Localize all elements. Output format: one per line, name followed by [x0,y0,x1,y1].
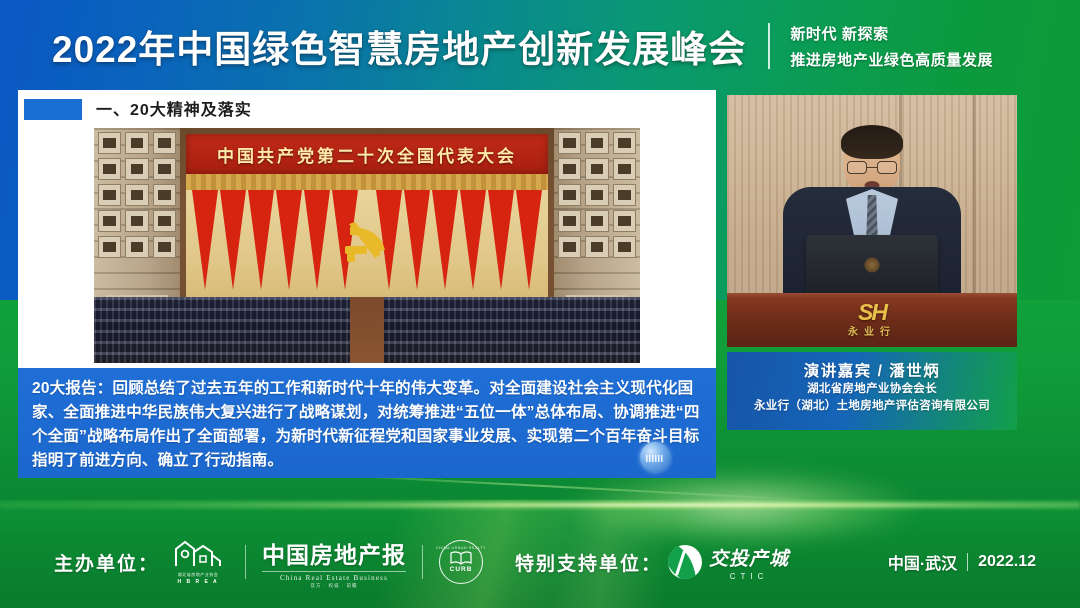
wall-tile [585,132,608,154]
wall-tile [125,210,148,232]
footer-separator [422,545,423,579]
wall-tile [125,158,148,180]
red-flag [220,190,246,290]
slide-marker-bar [24,99,82,120]
wall-tile [125,132,148,154]
background-light-streak [0,500,1080,510]
speaker-info-panel: 演讲嘉宾 / 潘世炳 湖北省房地产业协会会长 永业行（湖北）土地房地产评估咨询有… [727,352,1017,430]
wall-tile [153,236,176,258]
wall-tile [558,236,581,258]
congress-hall-photo: 中国共产党 第二十次 全国代表大会 [94,128,640,363]
ctic-leaf-icon [668,545,702,579]
speaker-hair [841,125,903,159]
wall-tile [585,158,608,180]
wall-tile [98,132,121,154]
header-subtitle-line-2: 推进房地产业绿色高质量发展 [790,49,993,70]
wall-tile [125,236,148,258]
slide-header: 一、20大精神及落实 [18,90,716,128]
congress-banner: 中国共产党第二十次全国代表大会 [186,134,548,174]
header-subtitle-group: 新时代 新探索 推进房地产业绿色高质量发展 [790,23,993,70]
wall-tile [585,210,608,232]
red-flag [488,190,514,290]
podium-logo: SH 永业行 [812,301,932,338]
curb-logo-text: CURB [450,566,473,573]
crb-logo-en: China Real Estate Business [262,571,406,582]
slide-section-title: 一、20大精神及落实 [96,96,252,120]
header-divider [768,23,770,69]
podium-logo-text: 永业行 [812,323,932,338]
page-header: 2022年中国绿色智慧房地产创新发展峰会 新时代 新探索 推进房地产业绿色高质量… [0,0,1080,92]
wall-tile [153,158,176,180]
hbrea-logo-abbr: H B R E A [177,579,218,585]
wall-tile [558,132,581,154]
event-location: 中国·武汉 [888,550,957,574]
open-book-icon [450,550,472,565]
speaker-organization: 永业行（湖北）土地房地产评估咨询有限公司 [727,398,1017,415]
wall-tile [98,158,121,180]
crb-logo-cn: 中国房地产报 [262,536,406,570]
wall-tile [153,210,176,232]
curb-logo: CHINA URBAN REALTY CURB [439,540,483,584]
eyeglasses-icon [847,161,897,174]
red-flag [460,190,486,290]
center-aisle [350,297,384,363]
hbrea-logo-cn: 湖北省房地产业协会 [178,572,219,578]
speaker-video-feed[interactable]: SH 永业行 [727,95,1017,347]
wall-tile [125,184,148,206]
footer-meta-separator [967,553,968,571]
speaker-name: 演讲嘉宾 / 潘世炳 [727,359,1017,381]
congress-delegates-seating [94,297,640,363]
congress-banner-text: 中国共产党第二十次全国代表大会 [217,142,517,167]
wall-tile [585,236,608,258]
red-flag [432,190,458,290]
presentation-slide-frame: 2022年中国绿色智慧房地产创新发展峰会 新时代 新探索 推进房地产业绿色高质量… [0,0,1080,608]
building-outline-icon [172,539,224,567]
slide-caption-block: 20大报告：回顾总结了过去五年的工作和新时代十年的伟大变革。对全面建设社会主义现… [18,368,716,478]
page-footer: 主办单位： 湖北省房地产业协会 H B R E A 中国房地产报 China R… [0,516,1080,608]
globe-watermark-icon [640,442,670,472]
stage-backdrop [186,190,548,300]
event-date: 2022.12 [978,553,1036,571]
red-flag [404,190,430,290]
red-flag [304,190,330,290]
china-real-estate-business-logo: 中国房地产报 China Real Estate Business 官方 · 权… [262,536,406,589]
wall-tile [98,184,121,206]
red-flag [516,190,542,290]
wall-tile [613,236,636,258]
wall-tile [558,158,581,180]
wall-tile [98,236,121,258]
wall-tile [613,158,636,180]
stage-valance [186,174,548,190]
speaker-title: 湖北省房地产业协会会长 [727,381,1017,398]
wall-tile [613,184,636,206]
ctic-logo: 交投产城 CTIC [668,544,789,581]
wall-tile [613,210,636,232]
support-label: 特别支持单位： [515,549,662,576]
ctic-logo-cn: 交投产城 [709,544,789,571]
header-subtitle-line-1: 新时代 新探索 [790,23,993,44]
wall-tile [153,184,176,206]
page-title: 2022年中国绿色智慧房地产创新发展峰会 [52,19,746,73]
wall-tile [153,132,176,154]
crb-logo-tagline: 官方 · 权威 · 前瞻 [262,583,406,589]
wall-tile [585,184,608,206]
footer-separator [245,545,246,579]
wall-tile-grid [98,132,176,282]
speaker-podium: SH 永业行 [727,293,1017,347]
wall-tile [558,210,581,232]
footer-meta: 中国·武汉 2022.12 [888,550,1036,574]
hbrea-logo: 湖北省房地产业协会 H B R E A [167,539,229,585]
red-flag [248,190,274,290]
wall-tile-grid [558,132,636,282]
host-label: 主办单位： [54,549,159,576]
laptop-computer [806,235,938,295]
slide-caption-text: 20大报告：回顾总结了过去五年的工作和新时代十年的伟大变革。对全面建设社会主义现… [32,377,702,473]
wall-tile [558,184,581,206]
red-flag [192,190,218,290]
podium-logo-mark: SH [812,301,932,323]
red-flag [276,190,302,290]
ctic-wordmark: 交投产城 CTIC [709,544,789,581]
cpc-hammer-sickle-icon [341,220,393,264]
wall-tile [98,210,121,232]
wall-tile [613,132,636,154]
curb-logo-arc-text: CHINA URBAN REALTY [436,546,486,550]
ctic-logo-en: CTIC [709,572,789,581]
